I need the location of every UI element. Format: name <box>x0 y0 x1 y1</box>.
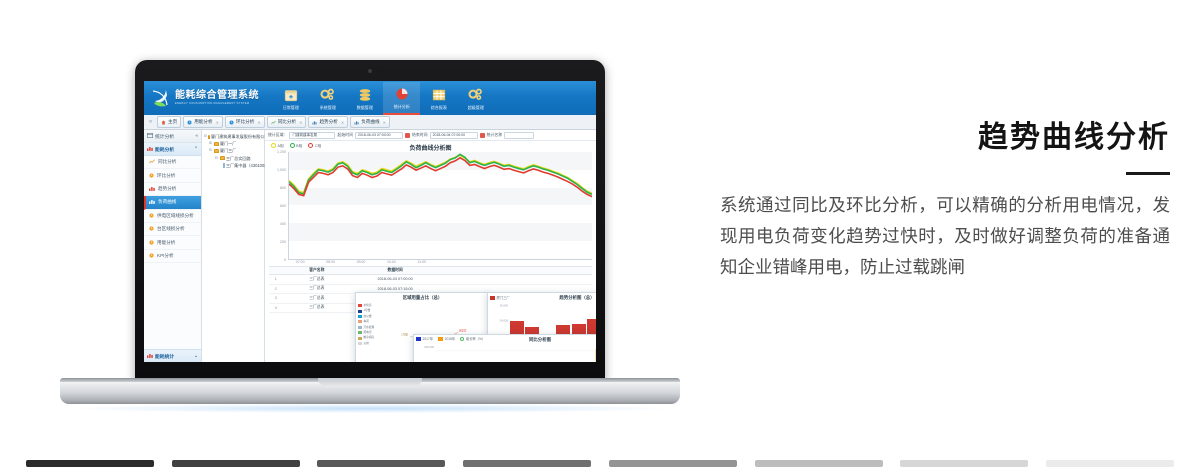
tab-load-curve[interactable]: 负荷曲线 ✕ <box>350 116 390 128</box>
sidebar-item-kpi-analysis[interactable]: KPI分析 <box>144 250 201 263</box>
table-col-time: 数据时间 <box>351 268 439 273</box>
stat-name-label: 统计名称 <box>487 132 503 138</box>
nav-label: 数据管理 <box>356 105 372 111</box>
sidebar-collapse-icon[interactable]: « <box>195 134 198 139</box>
folder-icon <box>214 149 219 153</box>
row-customer: 三厂总表 <box>282 296 351 301</box>
sidebar-item-load-curve[interactable]: 负荷曲线 <box>144 196 201 209</box>
tab-close-icon[interactable]: ✕ <box>383 120 386 125</box>
y-tick: 800 <box>280 186 286 190</box>
legend-item: 2018年 <box>438 336 455 341</box>
circle-icon <box>149 213 154 219</box>
tab-yoy-analysis[interactable]: 同比分析 ✕ <box>267 116 307 128</box>
folder-icon <box>220 156 225 160</box>
nav-item-system[interactable]: 系统管理 <box>309 82 346 115</box>
start-time-input[interactable]: 2018-06-03 07:00:00 <box>355 132 403 139</box>
gears-icon <box>320 87 335 103</box>
app-header: 能耗综合管理系统 ENERGY CONSUMPTION MANAGEMENT S… <box>144 81 596 115</box>
tree-node[interactable]: 三厂集中器（4301003 <box>204 162 262 169</box>
tree-toggle-icon[interactable]: ⊟ <box>209 147 213 154</box>
tab-strip: « 主页 用能分析 ✕ 环比分析 ✕ <box>144 115 596 130</box>
start-time-label: 起始时间 <box>337 132 353 138</box>
end-time-input[interactable]: 2018-06-04 07:00:00 <box>430 132 478 139</box>
area-select[interactable]: 门建筑建事发展 <box>289 132 335 139</box>
sidebar-footer-label: 能耗统计 <box>155 353 174 360</box>
bar-chart-icon <box>354 120 359 125</box>
y-tick: 24,000 <box>500 320 508 323</box>
y-tick: 0 <box>284 258 286 262</box>
row-index: 1 <box>269 277 282 281</box>
nav-label: 综合报表 <box>430 105 446 111</box>
bar-chart-icon <box>312 120 317 125</box>
sidebar-item-yoy-analysis[interactable]: 同比分析 <box>144 156 201 169</box>
sidebar-item-label: KPI分析 <box>157 253 174 259</box>
sidebar-item-label: 供电区域线损分析 <box>157 213 194 219</box>
row-customer: 三厂总表 <box>282 277 351 282</box>
sidebar-item-label: 环比分析 <box>157 173 175 179</box>
window-icon <box>147 133 153 140</box>
tree-node-label: 厦门三厂 <box>220 147 236 154</box>
tree-node-label: 厦门一厂 <box>220 140 236 147</box>
svg-text:水泵房: 水泵房 <box>459 329 467 333</box>
tab-label: 负荷曲线 <box>361 119 379 125</box>
sidebar-item-chain-analysis[interactable]: 环比分析 <box>144 169 201 182</box>
sidebar-item-station-loss[interactable]: 台区线损分析 <box>144 223 201 236</box>
tab-close-icon[interactable]: ✕ <box>257 120 260 125</box>
sidebar-group-energy-stats[interactable]: 能耗统计 ⌄ <box>144 349 201 362</box>
row-customer: 三厂总表 <box>282 286 351 291</box>
legend-item: 公用 <box>358 341 374 346</box>
legend-item: 厦门三厂 <box>490 295 510 300</box>
sidebar-item-label: 趋势分析 <box>158 186 176 192</box>
laptop-mockup: 能耗综合管理系统 ENERGY CONSUMPTION MANAGEMENT S… <box>60 60 680 400</box>
overlay-pie-title: 区域用量占比（总） <box>356 293 489 301</box>
color-swatch <box>463 460 591 467</box>
tab-label: 趋势分析 <box>319 119 337 125</box>
clock-icon <box>187 120 192 125</box>
main-chart-legend: A相 B相 C相 <box>271 143 321 149</box>
tab-trend-analysis[interactable]: 趋势分析 ✕ <box>308 116 348 128</box>
laptop-shadow-glow <box>70 404 670 413</box>
color-swatch <box>172 460 300 467</box>
leaf-logo-icon <box>150 87 172 109</box>
tree-node[interactable]: ⊟ 厦门三厂 <box>204 147 262 154</box>
gears-icon <box>468 87 483 103</box>
folder-icon <box>208 135 210 139</box>
x-tick: 11:00 <box>418 260 427 264</box>
laptop-lid: 能耗综合管理系统 ENERGY CONSUMPTION MANAGEMENT S… <box>135 60 605 385</box>
comparison-bars <box>435 346 596 362</box>
circle-icon <box>149 253 154 259</box>
home-icon <box>161 120 166 125</box>
overlay-panel-comparison[interactable]: 同比分析图 ⤢ ⊞ ⟳ ⌃ 2017年 2018年 增长率（%） 900,000… <box>413 334 596 362</box>
tab-close-icon[interactable]: ✕ <box>299 120 302 125</box>
nav-label: 超级管理 <box>467 105 483 111</box>
chevron-up-icon[interactable]: ⌃ <box>194 147 198 152</box>
tab-label: 环比分析 <box>236 119 254 125</box>
grid-table-icon <box>432 87 446 103</box>
x-tick: 09:00 <box>357 260 366 264</box>
tab-label: 主页 <box>168 119 177 125</box>
row-customer: 三厂总表 <box>282 305 351 310</box>
sidebar-item-label: 台区线损分析 <box>157 226 185 232</box>
bars-icon <box>147 146 153 153</box>
tree-node[interactable]: ⊞ 厦门一厂 <box>204 140 262 147</box>
tab-energy-analysis[interactable]: 用能分析 ✕ <box>183 116 223 128</box>
compare-legend: 2017年 2018年 增长率（%） <box>416 336 485 341</box>
line-chart-icon <box>271 120 276 125</box>
end-time-label: 结束时间 <box>412 132 428 138</box>
tree-node-label: 厦门建筑建事发展股份有限公司 <box>211 133 268 140</box>
y-tick: 600 <box>280 204 286 208</box>
svg-text:1号楼: 1号楼 <box>401 333 408 337</box>
color-swatch <box>900 460 1028 467</box>
laptop-screen: 能耗综合管理系统 ENERGY CONSUMPTION MANAGEMENT S… <box>144 81 596 362</box>
tree-toggle-icon[interactable]: ⊟ <box>215 155 219 162</box>
page-title: 趋势曲线分析 <box>720 112 1170 156</box>
color-swatch <box>755 460 883 467</box>
content-area: 统计区域： 门建筑建事发展 起始时间 2018-06-03 07:00:00 结… <box>265 130 596 362</box>
chevron-down-icon[interactable]: ⌄ <box>194 354 198 359</box>
bottom-color-strip <box>0 460 1200 467</box>
tab-label: 用能分析 <box>194 119 212 125</box>
tab-home[interactable]: 主页 <box>157 116 181 128</box>
x-tick: 10:00 <box>387 260 396 264</box>
legend-item-c-phase: C相 <box>308 143 321 149</box>
marketing-text-panel: 趋势曲线分析 系统通过同比及环比分析，可以精确的分析用电情况，发现用电负荷变化趋… <box>720 112 1170 284</box>
table-row[interactable]: 1 三厂总表 2018-06-03 07:00:00 <box>269 275 592 285</box>
sidebar-group-energy[interactable]: 能耗分析 ⌃ <box>144 143 201 156</box>
bars-icon <box>149 186 155 192</box>
tab-close-icon[interactable]: ✕ <box>341 120 344 125</box>
clock-icon <box>229 120 234 125</box>
load-curve-lines <box>289 152 592 259</box>
calendar-plus-icon <box>284 87 298 103</box>
circle-icon <box>149 226 154 232</box>
area-filter-label: 统计区域： <box>268 132 287 138</box>
webcam-icon <box>368 69 372 73</box>
logo-subtitle: ENERGY CONSUMPTION MANAGEMENT SYSTEM <box>175 103 259 106</box>
compare-y-axis: 900,000 600,000 300,000 0 <box>415 346 435 362</box>
sidebar-header-label: 统计分析 <box>155 133 174 140</box>
title-divider <box>1126 172 1170 175</box>
y-tick: 1,000 <box>277 168 286 172</box>
row-index: 4 <box>269 306 282 310</box>
plot-grid <box>288 152 592 260</box>
trend-legend: 厦门三厂 <box>490 295 510 300</box>
tree-node[interactable]: ⊟ 三厂总实回路 <box>204 155 262 162</box>
tree-node[interactable]: ⊟ 厦门建筑建事发展股份有限公司 <box>204 133 262 140</box>
y-tick: 25,000 <box>500 305 508 308</box>
nav-item-statistics[interactable]: 统计分析 <box>383 82 420 115</box>
y-tick: 1,200 <box>277 150 286 154</box>
legend-item: 增长率（%） <box>460 336 485 341</box>
pie-legend: 水泵房 1号楼 办公楼 车间 污水处理 配电室 制冷机房 公用 <box>358 303 374 346</box>
circle-icon <box>149 173 154 179</box>
nav-label: 日常管理 <box>282 105 298 111</box>
color-swatch <box>26 460 154 467</box>
color-swatch <box>317 460 445 467</box>
tree-node-label: 三厂总实回路 <box>226 155 251 162</box>
y-tick: 400 <box>280 222 286 226</box>
logo-title: 能耗综合管理系统 <box>175 91 259 101</box>
color-swatch <box>1046 460 1174 467</box>
legend-item-a-phase: A相 <box>271 143 284 149</box>
row-index: 3 <box>269 296 282 300</box>
sidebar-header: 统计分析 « <box>144 130 201 143</box>
tab-close-icon[interactable]: ✕ <box>216 120 219 125</box>
database-icon <box>358 87 372 103</box>
row-index: 2 <box>269 287 282 291</box>
sidebar-group-label: 能耗分析 <box>155 146 174 153</box>
stat-name-input[interactable] <box>504 132 534 139</box>
y-tick: 900,000 <box>424 346 434 349</box>
nav-item-daily[interactable]: 日常管理 <box>272 82 309 115</box>
calendar-icon[interactable] <box>405 133 410 138</box>
y-axis: 1,200 1,000 800 600 400 200 0 <box>269 152 287 260</box>
sidebar-item-energy-analysis[interactable]: 用能分析 <box>144 236 201 249</box>
y-tick: 200 <box>280 240 286 244</box>
nav-label: 系统管理 <box>319 105 335 111</box>
row-time: 2018-06-03 07:00:00 <box>351 277 439 281</box>
row-time: 2018-06-03 07:15:00 <box>351 287 439 291</box>
tree-toggle-icon[interactable]: ⊞ <box>209 140 213 147</box>
tab-label: 同比分析 <box>278 119 296 125</box>
bar-chart-icon <box>149 199 155 205</box>
sidebar-item-label: 同比分析 <box>158 159 176 165</box>
sidebar-item-trend-analysis[interactable]: 趋势分析 <box>144 183 201 196</box>
tree-node-label: 三厂集中器（4301003 <box>226 162 267 169</box>
document-icon <box>223 163 225 168</box>
pie-chart-icon <box>395 86 409 102</box>
calendar-icon[interactable] <box>480 133 485 138</box>
laptop-base <box>60 378 680 404</box>
filter-bar: 统计区域： 门建筑建事发展 起始时间 2018-06-03 07:00:00 结… <box>265 130 596 141</box>
nav-label: 统计分析 <box>393 104 409 110</box>
x-tick: 07:00 <box>296 260 305 264</box>
description-text: 系统通过同比及环比分析，可以精确的分析用电情况，发现用电负荷变化趋势过快时，及时… <box>720 191 1170 284</box>
x-tick: 08:00 <box>326 260 335 264</box>
line-chart-icon <box>149 159 155 165</box>
nav-item-admin[interactable]: 超级管理 <box>457 82 494 115</box>
sidebar-item-grid-area-loss[interactable]: 供电区域线损分析 <box>144 210 201 223</box>
circle-icon <box>149 240 154 246</box>
tabstrip-scroll-left[interactable]: « <box>144 119 157 125</box>
application-window: 能耗综合管理系统 ENERGY CONSUMPTION MANAGEMENT S… <box>144 81 596 362</box>
organization-tree: ⊟ 厦门建筑建事发展股份有限公司 ⊞ 厦门一厂 ⊟ 厦门三厂 <box>202 130 265 362</box>
nav-item-data[interactable]: 数据管理 <box>346 82 383 115</box>
sidebar: 统计分析 « 能耗分析 ⌃ <box>144 130 202 362</box>
main-chart-plot: 1,200 1,000 800 600 400 200 0 <box>269 152 592 260</box>
laptop-notch <box>318 378 422 387</box>
tree-toggle-icon[interactable]: ⊟ <box>204 133 207 140</box>
table-header-row: 客户名称 数据时间 <box>269 266 592 275</box>
app-logo: 能耗综合管理系统 ENERGY CONSUMPTION MANAGEMENT S… <box>144 87 272 109</box>
tab-chain-analysis[interactable]: 环比分析 ✕ <box>225 116 265 128</box>
color-swatch <box>609 460 737 467</box>
legend-item: 2017年 <box>416 336 433 341</box>
sidebar-item-label: 负荷曲线 <box>158 199 176 205</box>
table-col-customer: 客户名称 <box>282 268 351 273</box>
sidebar-item-label: 用能分析 <box>157 240 175 246</box>
main-nav: 日常管理 系统管理 数据管理 <box>272 81 494 115</box>
nav-item-reports[interactable]: 综合报表 <box>420 82 457 115</box>
folder-icon <box>214 142 219 146</box>
bar-chart-icon <box>147 353 153 360</box>
legend-item-b-phase: B相 <box>290 143 303 149</box>
